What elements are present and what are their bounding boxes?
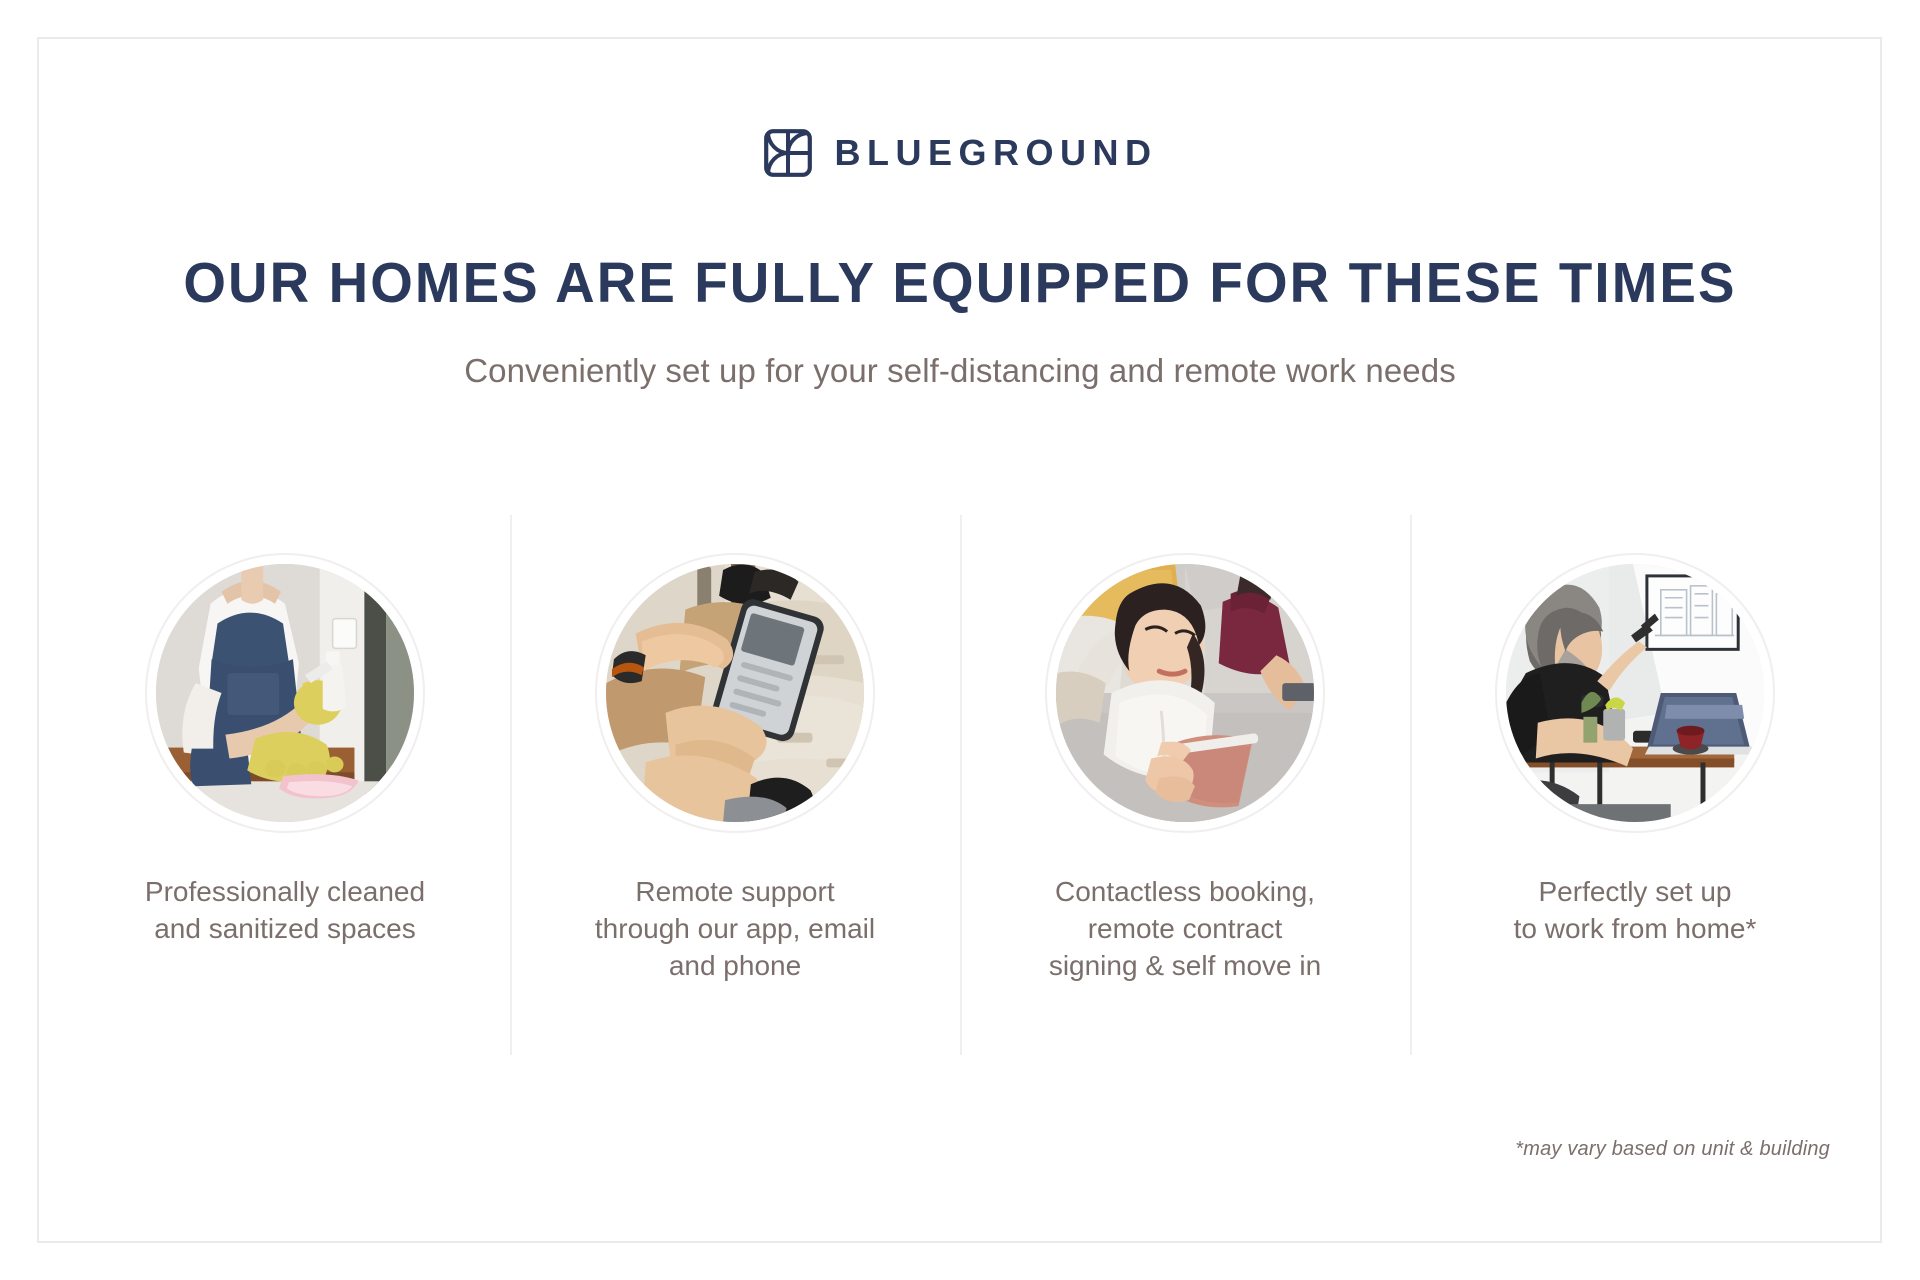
photo-ring <box>1045 553 1325 833</box>
feature-item-work-from-home: Perfectly set up to work from home* <box>1410 515 1860 1067</box>
feature-item-remote-support: Remote support through our app, email an… <box>510 515 960 1067</box>
poster-page: BLUEGROUND OUR HOMES ARE FULLY EQUIPPED … <box>0 0 1920 1280</box>
page-subtitle: Conveniently set up for your self-distan… <box>0 352 1920 390</box>
photo-ring <box>145 553 425 833</box>
cleaner-wiping-counter-photo <box>156 564 414 822</box>
hands-holding-smartphone-photo <box>606 564 864 822</box>
feature-caption: Perfectly set up to work from home* <box>1514 873 1757 947</box>
photo-ring <box>595 553 875 833</box>
feature-columns: Professionally cleaned and sanitized spa… <box>60 515 1860 1067</box>
brand-logo: BLUEGROUND <box>0 128 1920 178</box>
brand-wordmark: BLUEGROUND <box>835 135 1158 171</box>
photo-ring <box>1495 553 1775 833</box>
feature-item-contactless-booking: Contactless booking, remote contract sig… <box>960 515 1410 1067</box>
woman-on-bed-with-tablet-photo <box>1056 564 1314 822</box>
feature-caption: Professionally cleaned and sanitized spa… <box>145 873 425 947</box>
page-title: OUR HOMES ARE FULLY EQUIPPED FOR THESE T… <box>38 254 1881 314</box>
footnote: *may vary based on unit & building <box>1515 1138 1830 1161</box>
feature-item-cleaning: Professionally cleaned and sanitized spa… <box>60 515 510 1067</box>
feature-caption: Contactless booking, remote contract sig… <box>1049 873 1321 985</box>
blueground-square-logo-icon <box>763 128 813 178</box>
man-working-at-desk-with-laptop-photo <box>1506 564 1764 822</box>
feature-caption: Remote support through our app, email an… <box>595 873 875 985</box>
